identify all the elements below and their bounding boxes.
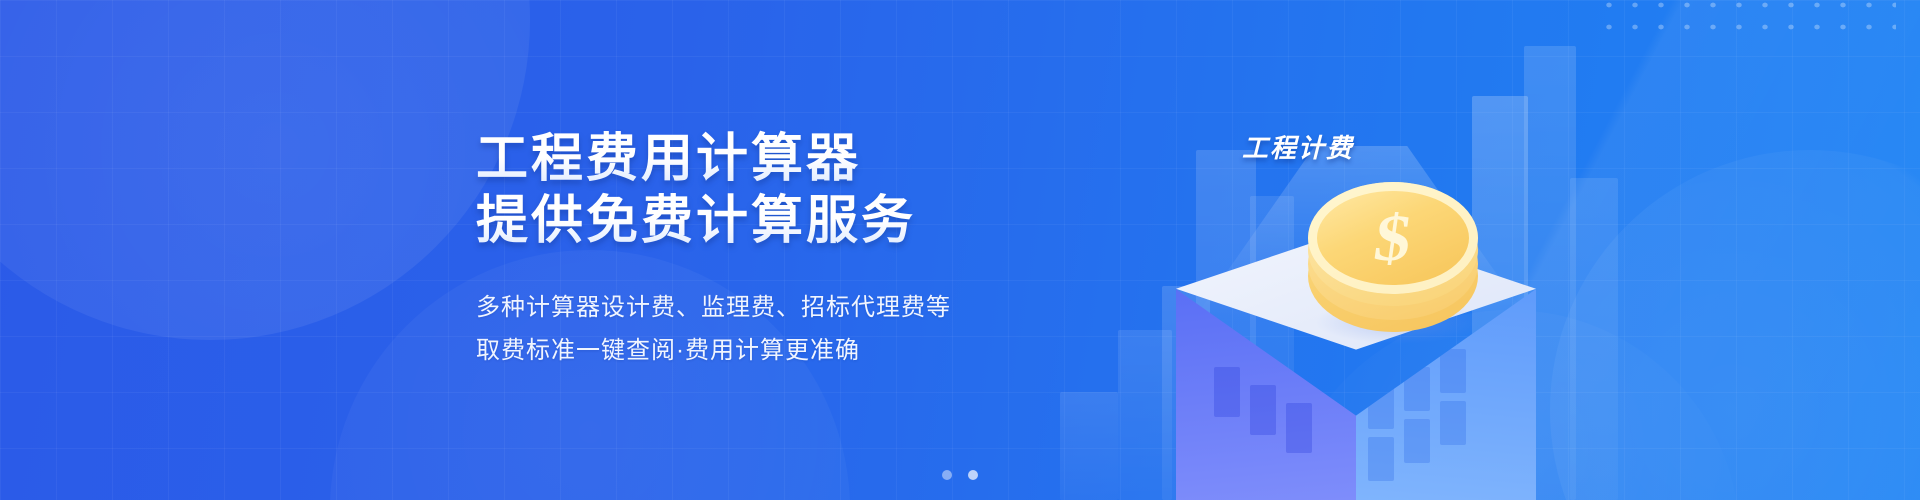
building-window (1404, 367, 1430, 411)
building-window (1286, 403, 1312, 453)
building-window (1368, 385, 1394, 429)
banner-headline-line-1: 工程费用计算器 (476, 128, 1196, 190)
coin-group: $ (1300, 182, 1490, 334)
banner-subtitle-line-2: 取费标准一键查阅·费用计算更准确 (476, 329, 1196, 372)
carousel-dot-1[interactable] (942, 470, 952, 480)
banner-headline-line-2: 提供免费计算服务 (476, 190, 1196, 252)
building-window (1440, 349, 1466, 393)
building-window (1404, 419, 1430, 463)
skyline-bar-8 (1060, 392, 1118, 500)
hero-banner: 工程费用计算器 提供免费计算服务 多种计算器设计费、监理费、招标代理费等 取费标… (0, 0, 1920, 500)
skyline-bar-7 (1570, 178, 1618, 500)
banner-illustration: 工程计费 (1100, 0, 1800, 500)
carousel-dot-2[interactable] (968, 470, 978, 480)
banner-copy-block: 工程费用计算器 提供免费计算服务 多种计算器设计费、监理费、招标代理费等 取费标… (476, 128, 1196, 372)
gold-coin-stack: $ (1300, 182, 1500, 342)
coin-face: $ (1308, 182, 1478, 294)
building-window (1250, 385, 1276, 435)
building-window (1368, 437, 1394, 481)
illustration-badge-label: 工程计费 (1242, 128, 1354, 165)
building-window (1440, 401, 1466, 445)
building-window (1214, 367, 1240, 417)
decorative-circle-top-left (0, 0, 530, 340)
dollar-sign-icon: $ (1301, 186, 1485, 289)
carousel-indicators[interactable] (942, 470, 978, 480)
banner-subtitle-line-1: 多种计算器设计费、监理费、招标代理费等 (476, 286, 1196, 329)
